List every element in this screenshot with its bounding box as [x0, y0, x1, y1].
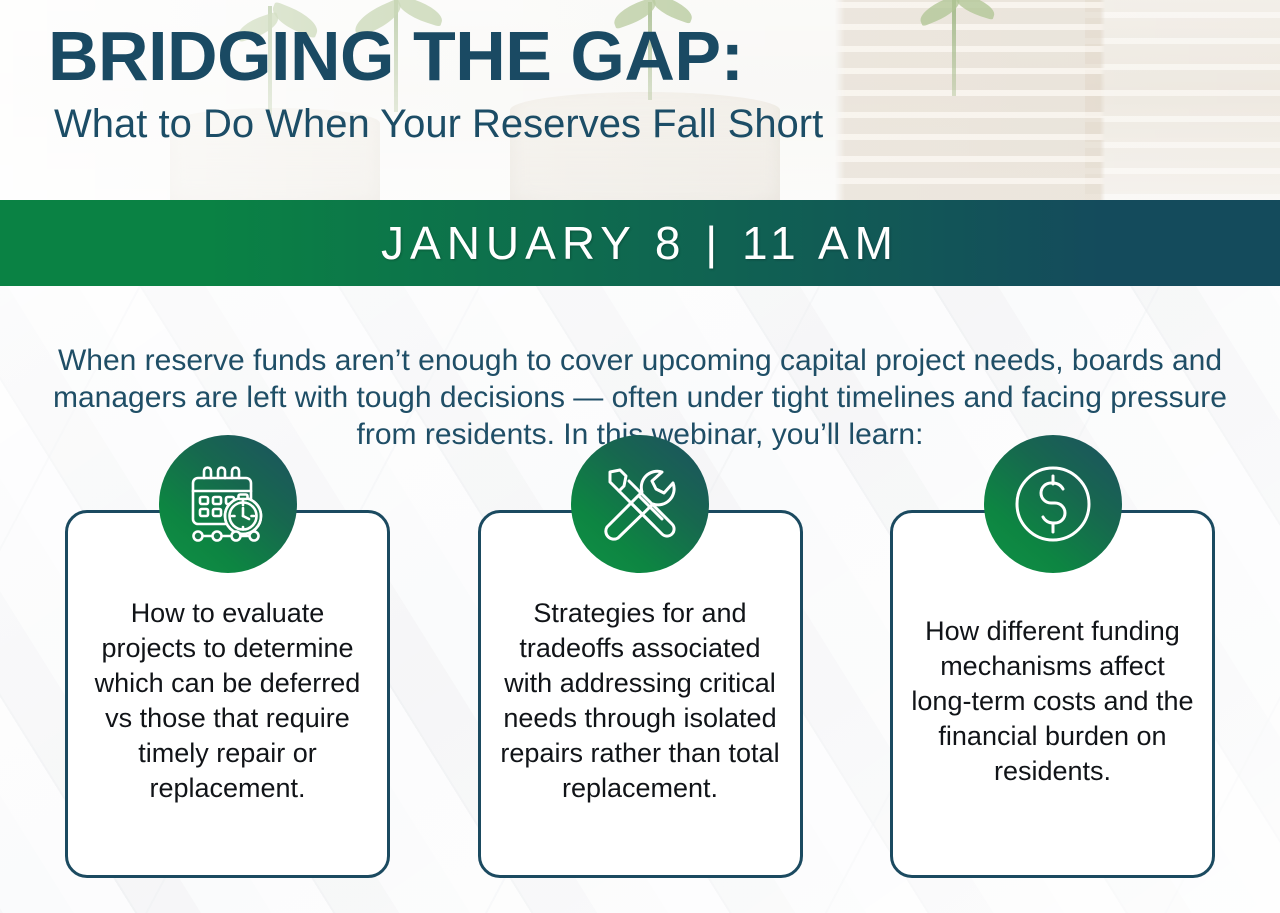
page-title: BRIDGING THE GAP:: [48, 16, 823, 96]
card-text: Strategies for and tradeoffs associated …: [495, 582, 786, 806]
hero-header: BRIDGING THE GAP: What to Do When Your R…: [0, 0, 1280, 200]
wrench-screwdriver-icon: [571, 435, 709, 573]
benefit-card-list: How to evaluate projects to determine wh…: [65, 510, 1215, 880]
benefit-card-3: How different funding mechanisms affect …: [890, 510, 1215, 878]
body-section: When reserve funds aren’t enough to cove…: [0, 286, 1280, 913]
promo-graphic: BRIDGING THE GAP: What to Do When Your R…: [0, 0, 1280, 913]
card-text: How to evaluate projects to determine wh…: [82, 582, 373, 806]
calendar-clock-timeline-icon: [159, 435, 297, 573]
dollar-coin-icon: [984, 435, 1122, 573]
hero-text-block: BRIDGING THE GAP: What to Do When Your R…: [48, 16, 823, 148]
page-subtitle: What to Do When Your Reserves Fall Short: [54, 100, 823, 148]
date-banner-text: JANUARY 8 | 11 AM: [381, 220, 899, 266]
card-text: How different funding mechanisms affect …: [907, 600, 1198, 789]
date-banner: JANUARY 8 | 11 AM: [0, 200, 1280, 286]
benefit-card-1: How to evaluate projects to determine wh…: [65, 510, 390, 878]
benefit-card-2: Strategies for and tradeoffs associated …: [478, 510, 803, 878]
